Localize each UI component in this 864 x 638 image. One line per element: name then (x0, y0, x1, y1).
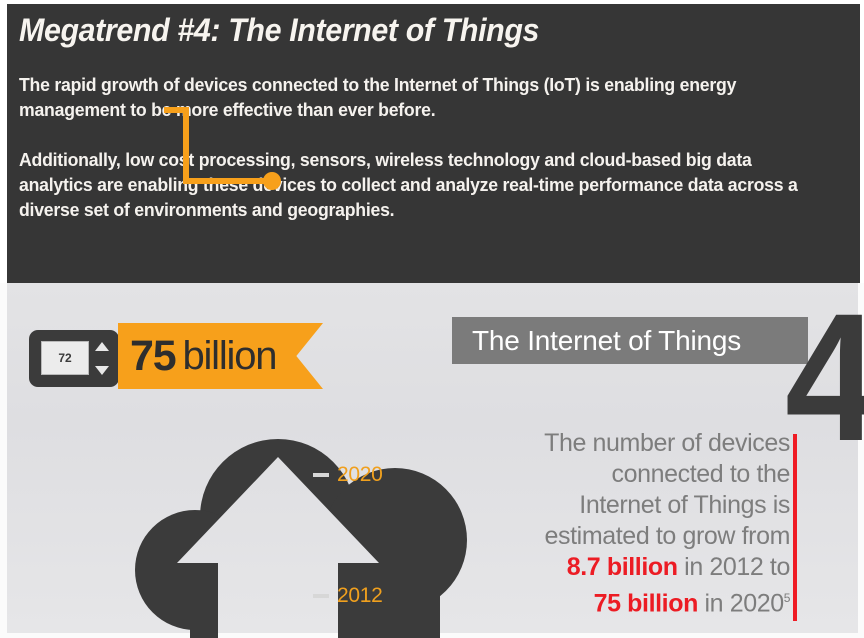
callout-number: 75 (130, 332, 175, 381)
tick-dash-icon (313, 473, 329, 477)
footnote-marker: 5 (784, 591, 790, 605)
description-block: The number of devices connected to the I… (500, 428, 790, 619)
description-line-1: The number of devices (544, 429, 790, 457)
year-label-2012-text: 2012 (337, 584, 383, 608)
description-highlight-2012: 8.7 billion (567, 553, 678, 581)
arrow-up-icon (95, 342, 109, 351)
callout-ribbon-text: 75 billion (130, 325, 276, 387)
thermostat-display: 72 (41, 341, 89, 375)
description-mid-text: in 2012 to (678, 553, 790, 581)
year-label-2020-text: 2020 (337, 463, 383, 487)
page-title: Megatrend #4: The Internet of Things (19, 12, 539, 49)
header-paragraph-2: Additionally, low cost processing, senso… (19, 147, 821, 222)
header-panel: Megatrend #4: The Internet of Things The… (0, 0, 864, 283)
year-label-2012: 2012 (313, 584, 383, 608)
header-paragraph-1: The rapid growth of devices connected to… (19, 72, 821, 122)
thermostat-icon: 72 (29, 330, 119, 387)
infographic-page: Megatrend #4: The Internet of Things The… (0, 0, 864, 638)
description-line-3: Internet of Things is (579, 491, 790, 519)
arrow-down-icon (95, 366, 109, 375)
cloud-upload-icon (130, 405, 470, 638)
section-title-label: The Internet of Things (472, 317, 741, 364)
accent-vertical-rule (793, 434, 797, 621)
tick-dash-icon (313, 594, 329, 598)
description-line-4: estimated to grow from (545, 522, 790, 550)
year-label-2020: 2020 (313, 463, 383, 487)
section-number-watermark: 4 (785, 302, 864, 452)
thermostat-stepper (95, 342, 109, 375)
description-line-2: connected to the (612, 460, 790, 488)
description-highlight-2020: 75 billion (594, 589, 698, 617)
callout-unit: billion (182, 334, 276, 379)
description-end-text: in 2020 (698, 589, 784, 617)
